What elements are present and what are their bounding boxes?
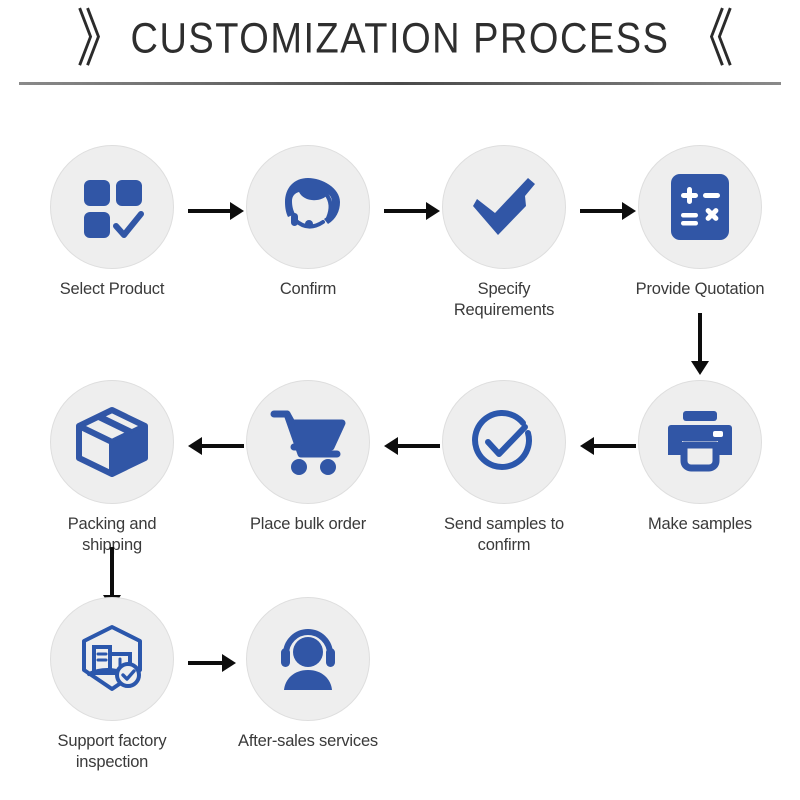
step-icon-bubble bbox=[638, 380, 762, 504]
step-node-specify-requirements[interactable]: Specify Requirements bbox=[428, 145, 580, 320]
arrow-step9-to-step10 bbox=[188, 653, 236, 673]
step-icon-bubble bbox=[442, 380, 566, 504]
step-label: Make samples bbox=[624, 514, 776, 535]
step-label: Support factory inspection bbox=[36, 731, 188, 772]
step-node-select-product[interactable]: Select Product bbox=[36, 145, 188, 300]
step-node-make-samples[interactable]: Make samples bbox=[624, 380, 776, 535]
step-icon-bubble bbox=[50, 145, 174, 269]
checkmark-icon bbox=[467, 170, 541, 244]
step-node-place-bulk-order[interactable]: Place bulk order bbox=[232, 380, 384, 535]
arrow-shaft bbox=[188, 209, 230, 213]
arrow-head-left-icon bbox=[188, 437, 202, 455]
step-node-provide-quotation[interactable]: Provide Quotation bbox=[624, 145, 776, 300]
headphones-person-icon bbox=[271, 624, 345, 694]
step-node-support-factory-inspection[interactable]: Support factory inspection bbox=[36, 597, 188, 772]
step-label: Place bulk order bbox=[232, 514, 384, 535]
step-node-packing-and-shipping[interactable]: Packing and shipping bbox=[36, 380, 188, 555]
double-chevron-right-icon: 》 bbox=[77, 8, 117, 71]
circle-check-icon bbox=[467, 405, 541, 479]
arrow-shaft bbox=[188, 661, 222, 665]
step-label: Provide Quotation bbox=[624, 279, 776, 300]
arrow-shaft bbox=[110, 547, 114, 595]
step-label: After-sales services bbox=[232, 731, 384, 752]
step-icon-bubble bbox=[50, 597, 174, 721]
calculator-icon bbox=[669, 171, 731, 243]
step-label: Select Product bbox=[36, 279, 188, 300]
step-icon-bubble bbox=[246, 597, 370, 721]
step-label: Specify Requirements bbox=[428, 279, 580, 320]
package-box-icon bbox=[74, 405, 150, 479]
step-label: Confirm bbox=[232, 279, 384, 300]
step-node-confirm[interactable]: Confirm bbox=[232, 145, 384, 300]
page-title: CUSTOMIZATION PROCESS bbox=[131, 15, 670, 63]
step-node-after-sales-services[interactable]: After-sales services bbox=[232, 597, 384, 752]
page-header: 》 CUSTOMIZATION PROCESS 《 bbox=[0, 0, 800, 85]
factory-inspection-shield-icon bbox=[75, 622, 149, 696]
arrow-shaft bbox=[384, 209, 426, 213]
step-icon-bubble bbox=[638, 145, 762, 269]
arrow-head-left-icon bbox=[580, 437, 594, 455]
step-icon-bubble bbox=[50, 380, 174, 504]
step-node-send-samples-to-confirm[interactable]: Send samples to confirm bbox=[428, 380, 580, 555]
step-icon-bubble bbox=[246, 145, 370, 269]
step-label: Send samples to confirm bbox=[428, 514, 580, 555]
step-icon-bubble bbox=[246, 380, 370, 504]
process-flow-diagram: Select Product Confirm bbox=[0, 85, 800, 785]
arrow-shaft bbox=[580, 209, 622, 213]
double-chevron-left-icon: 《 bbox=[683, 8, 723, 71]
arrow-head-left-icon bbox=[384, 437, 398, 455]
printer-icon bbox=[663, 409, 737, 475]
shopping-cart-icon bbox=[270, 407, 346, 477]
headset-operator-icon bbox=[271, 170, 345, 244]
arrow-head-down-icon bbox=[691, 361, 709, 375]
arrow-shaft bbox=[698, 313, 702, 361]
grid-check-icon bbox=[77, 172, 147, 242]
title-row: 》 CUSTOMIZATION PROCESS 《 bbox=[0, 8, 800, 70]
arrow-step4-to-step5 bbox=[690, 313, 710, 375]
step-icon-bubble bbox=[442, 145, 566, 269]
